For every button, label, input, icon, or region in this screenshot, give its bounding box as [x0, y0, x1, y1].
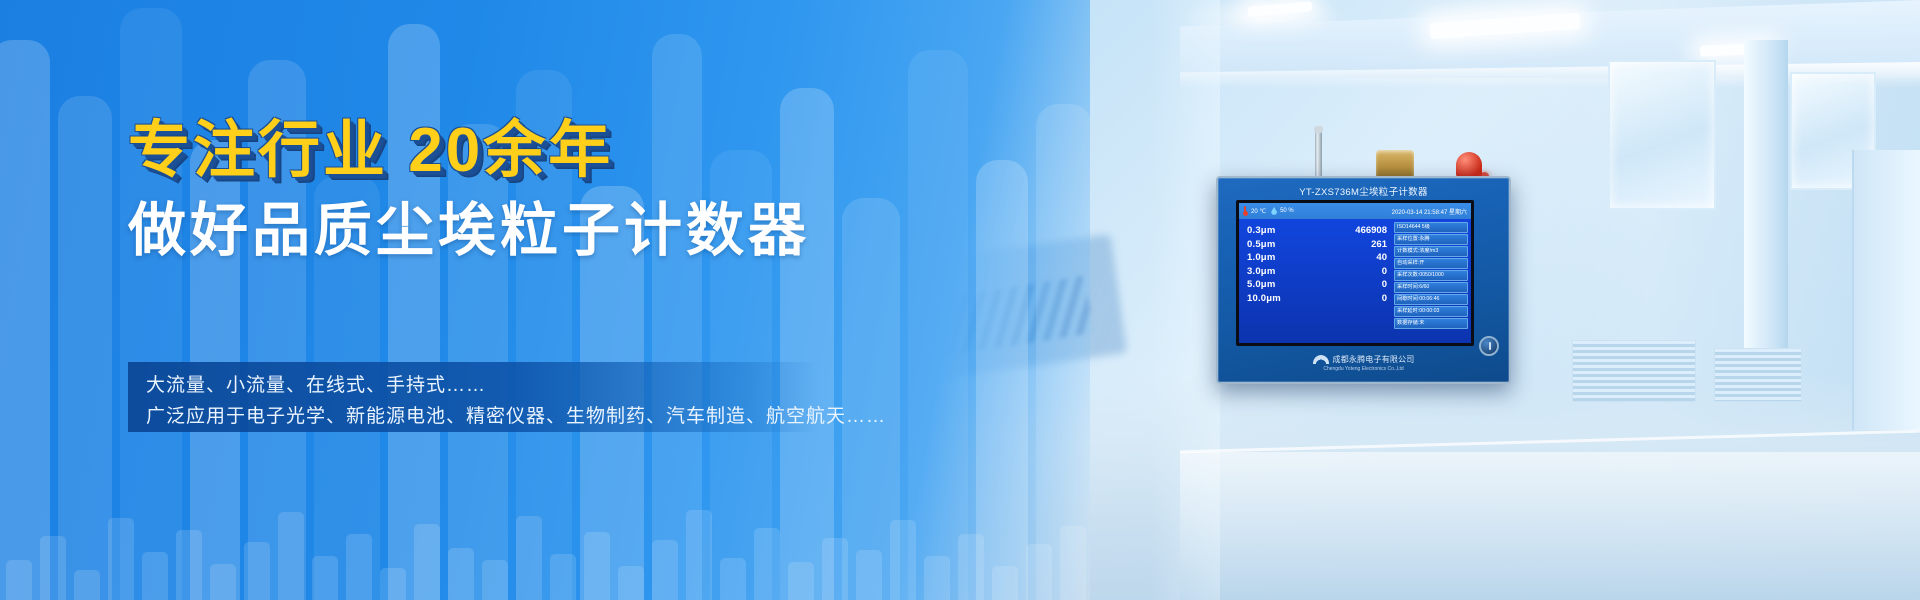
- table-row: 1.0μm 40: [1247, 251, 1387, 265]
- particle-count: 0: [1382, 292, 1387, 306]
- wall-vent: [1714, 348, 1802, 402]
- list-item: 数据存储:末: [1394, 318, 1468, 329]
- decorative-bottom-bars: [0, 490, 1090, 600]
- wall-vent: [1572, 340, 1696, 402]
- humidity-value: 50 %: [1280, 208, 1294, 214]
- list-item: 采样时间:6/60: [1394, 282, 1468, 293]
- particle-size: 1.0μm: [1247, 251, 1275, 265]
- device-body: YT-ZXS736M尘埃粒子计数器 20 ℃ 50 % 2020-03-14 2…: [1216, 176, 1511, 384]
- yoteng-logo-icon: [1313, 355, 1329, 364]
- brass-inlet-cap: [1376, 150, 1414, 178]
- banner-stage: 专注行业 20余年 做好品质尘埃粒子计数器 大流量、小流量、在线式、手持式…… …: [0, 0, 1920, 600]
- temperature-readout: 20 ℃: [1243, 206, 1266, 216]
- headline-block: 专注行业 20余年 做好品质尘埃粒子计数器: [128, 118, 888, 263]
- subtitle-box: 大流量、小流量、在线式、手持式…… 广泛应用于电子光学、新能源电池、精密仪器、生…: [128, 362, 818, 432]
- table-row: 0.5μm 261: [1247, 238, 1387, 252]
- lcd-status-bar: 20 ℃ 50 % 2020-03-14 21:58:47 星期六: [1239, 203, 1471, 219]
- device-info-panel: ISO14644 5级 采样位置:永腾 计数模式:浓度/m3 自动采样:开 采样…: [1393, 219, 1471, 346]
- thermometer-icon: [1243, 206, 1248, 216]
- table-row: 5.0μm 0: [1247, 278, 1387, 292]
- particle-count: 466908: [1355, 224, 1387, 238]
- antenna-icon: [1315, 130, 1322, 178]
- power-button[interactable]: [1479, 336, 1499, 356]
- alarm-lamp-icon: [1456, 152, 1482, 178]
- list-item: ISO14644 5级: [1394, 222, 1468, 233]
- floor-edge: [1180, 430, 1920, 454]
- table-row: 10.0μm 0: [1247, 292, 1387, 306]
- table-row: 3.0μm 0: [1247, 265, 1387, 279]
- device-branding: 成都永腾电子有限公司 Chengdu Yoteng Electronics Co…: [1218, 354, 1509, 372]
- subtitle-line-1: 大流量、小流量、在线式、手持式……: [146, 370, 818, 401]
- corridor-window: [1608, 60, 1716, 210]
- particle-size: 0.3μm: [1247, 224, 1275, 238]
- particle-count-table: 0.3μm 466908 0.5μm 261 1.0μm 40 3.0μm: [1239, 219, 1393, 346]
- particle-count: 0: [1382, 265, 1387, 279]
- blue-overlay: [0, 0, 1090, 600]
- particle-count: 0: [1382, 278, 1387, 292]
- list-item: 采样次数:0050/1000: [1394, 270, 1468, 281]
- ceiling-lamp-icon: [1248, 1, 1313, 17]
- list-item: 间歇时间:00:06:46: [1394, 294, 1468, 305]
- headline-primary: 专注行业 20余年: [128, 118, 888, 185]
- device-lcd-screen[interactable]: 20 ℃ 50 % 2020-03-14 21:58:47 星期六 0.3μm …: [1236, 200, 1474, 346]
- floor-reflection: [1180, 452, 1920, 600]
- particle-size: 3.0μm: [1247, 265, 1275, 279]
- brand-name-cn: 成都永腾电子有限公司: [1333, 354, 1415, 365]
- temperature-value: 20 ℃: [1251, 208, 1266, 215]
- particle-count: 40: [1376, 251, 1387, 265]
- lcd-main-area: 0.3μm 466908 0.5μm 261 1.0μm 40 3.0μm: [1239, 219, 1471, 346]
- list-item: 采样延时:00:00:03: [1394, 306, 1468, 317]
- water-drop-icon: [1271, 207, 1277, 215]
- particle-size: 0.5μm: [1247, 238, 1275, 252]
- particle-size: 5.0μm: [1247, 278, 1275, 292]
- headline-secondary: 做好品质尘埃粒子计数器: [128, 199, 888, 263]
- corridor-door: [1852, 150, 1920, 430]
- datetime-readout: 2020-03-14 21:58:47 星期六: [1392, 207, 1467, 216]
- subtitle-line-2: 广泛应用于电子光学、新能源电池、精密仪器、生物制药、汽车制造、航空航天……: [146, 401, 818, 432]
- list-item: 计数模式:浓度/m3: [1394, 246, 1468, 257]
- list-item: 自动采样:开: [1394, 258, 1468, 269]
- particle-size: 10.0μm: [1247, 292, 1281, 306]
- brand-name-en: Chengdu Yoteng Electronics Co.,Ltd: [1218, 366, 1509, 372]
- humidity-readout: 50 %: [1271, 207, 1294, 215]
- particle-counter-device: YT-ZXS736M尘埃粒子计数器 20 ℃ 50 % 2020-03-14 2…: [1216, 176, 1511, 384]
- device-model-title: YT-ZXS736M尘埃粒子计数器: [1218, 184, 1509, 198]
- corridor-pillar: [1744, 40, 1788, 370]
- particle-count: 261: [1371, 238, 1387, 252]
- list-item: 采样位置:永腾: [1394, 234, 1468, 245]
- table-row: 0.3μm 466908: [1247, 224, 1387, 238]
